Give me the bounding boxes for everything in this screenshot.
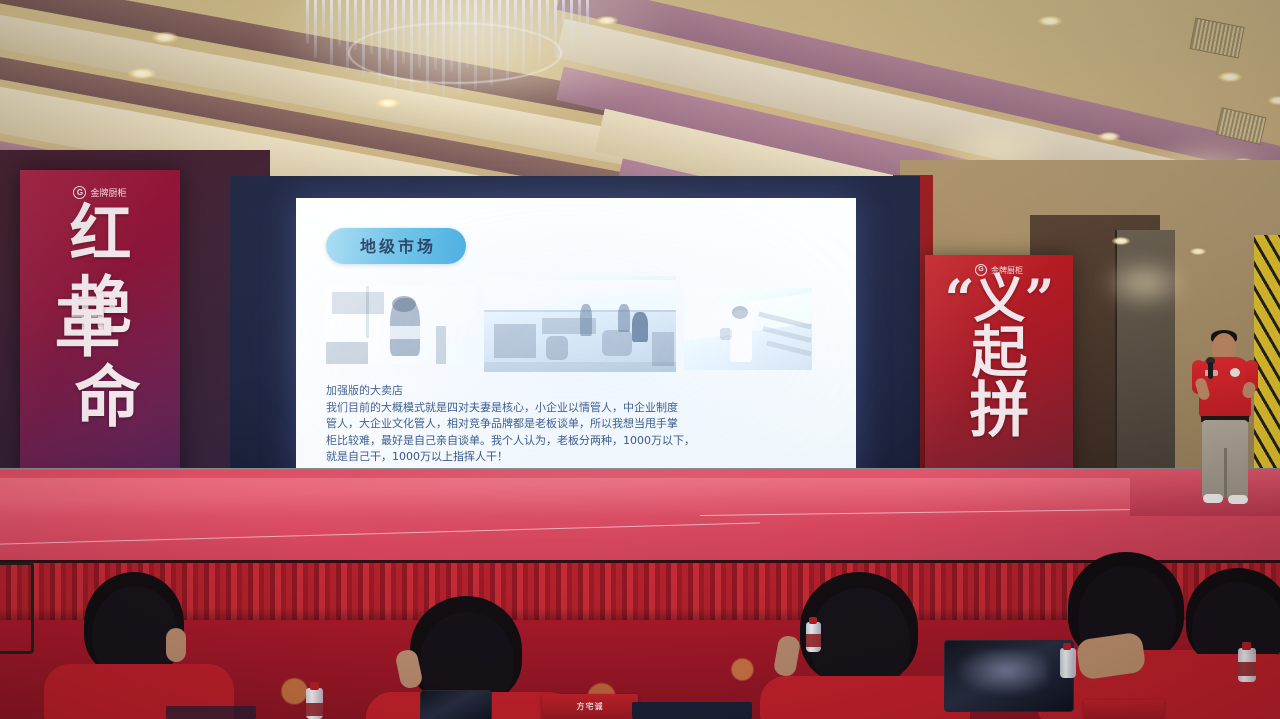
table-name-card (1084, 700, 1164, 719)
presentation-slide: 地级市场 (296, 198, 856, 476)
ceiling-vent (1189, 18, 1244, 59)
slide-body-line-2: 管人，大企业文化管人，相对竞争品牌都是老板谈单，所以我想当甩手掌 (326, 416, 830, 433)
chair-back (0, 562, 34, 654)
slide-body-text: 加强版的大卖店 我们目前的大概模式就是四对夫妻是核心，小企业以情管人，中企业制度… (326, 383, 830, 466)
projection-screen: 地级市场 (296, 198, 856, 476)
ceiling-downlight (596, 16, 618, 25)
water-bottle (1060, 648, 1076, 678)
conference-hall-photo: G 金牌厨柜 红 艳 革 命 G 金牌厨柜 “义” 起 拼 地级市场 (0, 0, 1280, 719)
banner-left: G 金牌厨柜 红 艳 革 命 (20, 170, 180, 510)
ceiling-downlight (128, 68, 156, 79)
slide-body-line-3: 柜比较难，最好是自己亲自谈单。我个人认为，老板分两种，1000万以下， (326, 433, 830, 450)
table-surface (632, 702, 752, 719)
speaker-shirt-logo (1230, 368, 1240, 377)
slide-body-line-1: 我们目前的大概模式就是四对夫妻是核心，小企业以情管人，中企业制度 (326, 400, 830, 417)
wall-downlight (1190, 248, 1206, 255)
ceiling-downlight (1218, 72, 1242, 82)
speaker-shoe-left (1203, 494, 1223, 503)
slide-photo-aircraft (684, 288, 812, 370)
name-card-text: 方宅诚 (542, 701, 638, 712)
crystal-chandelier (300, 0, 630, 108)
slide-title: 地级市场 (326, 228, 466, 264)
ceiling-downlight (376, 98, 400, 108)
ceiling-downlight (1038, 16, 1062, 26)
wall-downlight (1112, 237, 1130, 245)
banner-left-calligraphy-1: 红 (20, 204, 180, 264)
slide-body-line-4: 就是自己干，1000万以上指挥人干！ (326, 449, 830, 466)
slide-body-heading: 加强版的大卖店 (326, 383, 830, 400)
ceiling-downlight (1098, 132, 1120, 141)
table-surface (166, 706, 256, 719)
slide-photo-row (326, 276, 830, 372)
ceiling-downlight (152, 32, 178, 43)
slide-photo-office (484, 276, 676, 372)
banner-right-calligraphy-1: “义” (925, 275, 1073, 325)
speaker-shoe-right (1228, 495, 1248, 504)
slide-photo-workshop (326, 286, 476, 364)
banner-right-calligraphy-3: 拼 (925, 383, 1073, 441)
banner-right-calligraphy-2: 起 (925, 327, 1073, 381)
banner-left-calligraphy-4: 命 (34, 366, 180, 429)
ceiling-downlight (1268, 96, 1280, 105)
table-name-card: 方宅诚 (542, 694, 638, 719)
banner-left-calligraphy-3: 革 (20, 296, 180, 359)
phone-screen[interactable] (420, 690, 492, 719)
